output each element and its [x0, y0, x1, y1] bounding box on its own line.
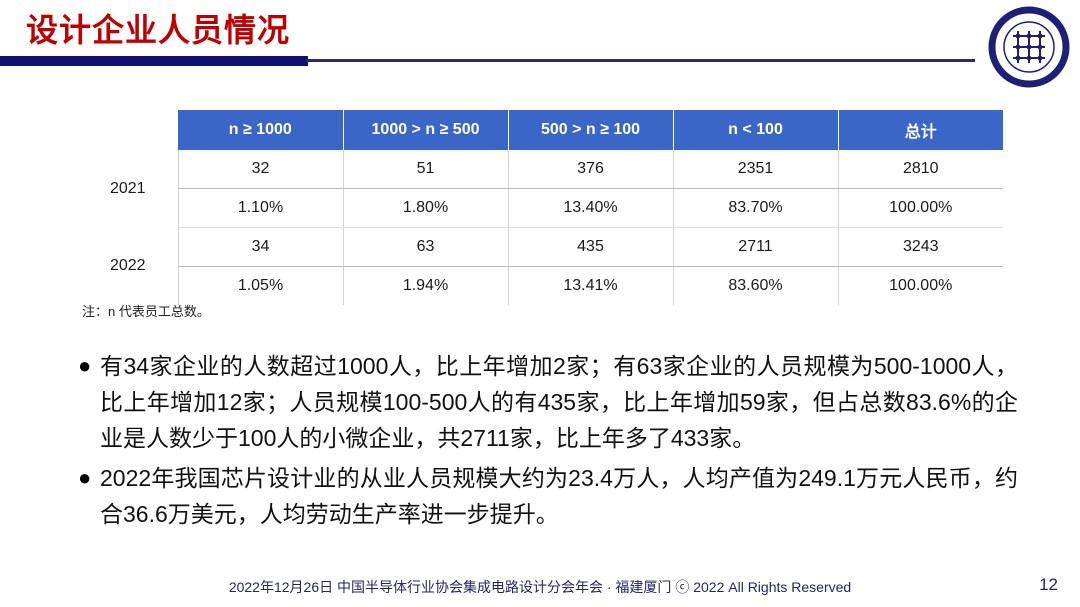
bullet-marker-icon: ●: [78, 348, 100, 384]
table-cell-year: 2021: [78, 150, 178, 228]
list-item: ● 有34家企业的人数超过1000人，比上年增加2家；有63家企业的人员规模为5…: [78, 348, 1018, 456]
table-cell-percent: 100.00%: [838, 267, 1003, 306]
table-note: 注：n 代表员工总数。: [82, 301, 210, 320]
footer-text: 2022年12月26日 中国半导体行业协会集成电路设计分会年会 · 福建厦门 ⓒ…: [0, 577, 1080, 597]
table-cell-count: 51: [343, 150, 508, 189]
table-cell-percent: 100.00%: [838, 189, 1003, 228]
title-rule-thin: [306, 59, 975, 62]
table-cell-percent: 1.94%: [343, 267, 508, 306]
table-cell-count: 34: [178, 228, 343, 267]
table-row: 1.10% 1.80% 13.40% 83.70% 100.00%: [78, 189, 1003, 228]
table-header-year: [78, 110, 178, 150]
table-row: 2022 34 63 435 2711 3243: [78, 228, 1003, 267]
iccad-logo: I C C A D: [988, 6, 1070, 88]
table-cell-percent: 1.10%: [178, 189, 343, 228]
table-cell-count: 2351: [673, 150, 838, 189]
page-number: 12: [1039, 575, 1058, 595]
bullet-list: ● 有34家企业的人数超过1000人，比上年增加2家；有63家企业的人员规模为5…: [78, 348, 1018, 536]
table-header-col-1: 1000 > n ≥ 500: [343, 110, 508, 150]
personnel-table: n ≥ 1000 1000 > n ≥ 500 500 > n ≥ 100 n …: [78, 110, 1003, 305]
title-rule-thick: [0, 56, 308, 66]
table-header-col-2: 500 > n ≥ 100: [508, 110, 673, 150]
table-cell-count: 376: [508, 150, 673, 189]
table-cell-count: 3243: [838, 228, 1003, 267]
table-cell-percent: 83.70%: [673, 189, 838, 228]
table-header-row: n ≥ 1000 1000 > n ≥ 500 500 > n ≥ 100 n …: [78, 110, 1003, 150]
table-cell-count: 435: [508, 228, 673, 267]
table-row: 1.05% 1.94% 13.41% 83.60% 100.00%: [78, 267, 1003, 306]
table-header-col-0: n ≥ 1000: [178, 110, 343, 150]
list-item: ● 2022年我国芯片设计业的从业人员规模大约为23.4万人，人均产值为249.…: [78, 460, 1018, 532]
bullet-text: 有34家企业的人数超过1000人，比上年增加2家；有63家企业的人员规模为500…: [100, 348, 1018, 456]
table-cell-count: 63: [343, 228, 508, 267]
page-title: 设计企业人员情况: [26, 9, 290, 51]
table-header-col-3: n < 100: [673, 110, 838, 150]
table-cell-count: 2810: [838, 150, 1003, 189]
table-cell-percent: 83.60%: [673, 267, 838, 306]
table-cell-count: 2711: [673, 228, 838, 267]
table-cell-percent: 13.40%: [508, 189, 673, 228]
table-cell-percent: 1.05%: [178, 267, 343, 306]
table-cell-count: 32: [178, 150, 343, 189]
bullet-marker-icon: ●: [78, 460, 100, 496]
table-cell-percent: 1.80%: [343, 189, 508, 228]
table-cell-year: 2022: [78, 228, 178, 306]
bullet-text: 2022年我国芯片设计业的从业人员规模大约为23.4万人，人均产值为249.1万…: [100, 460, 1018, 532]
table-cell-percent: 13.41%: [508, 267, 673, 306]
table-row: 2021 32 51 376 2351 2810: [78, 150, 1003, 189]
table-header-col-4: 总计: [838, 110, 1003, 150]
